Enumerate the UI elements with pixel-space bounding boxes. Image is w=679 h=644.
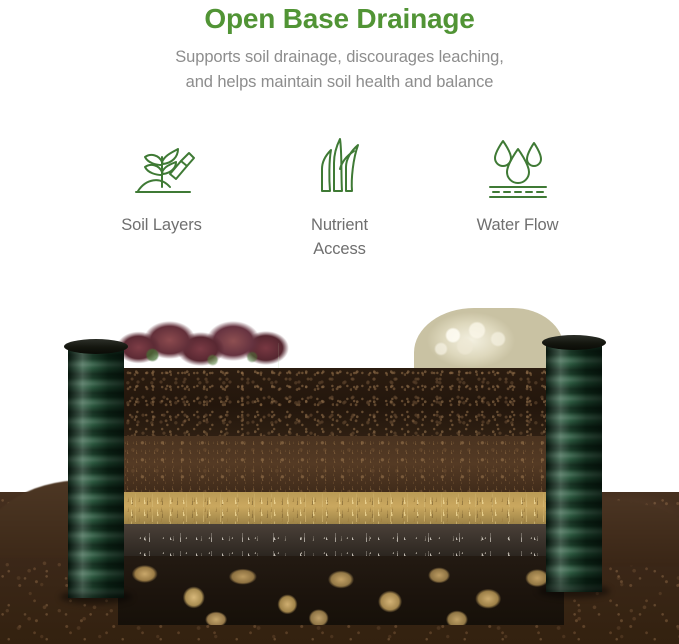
feature-label-line-2: Access xyxy=(311,237,368,261)
feature-label-line-1: Water Flow xyxy=(477,213,559,237)
corrugated-post-right xyxy=(546,342,602,592)
garden-bed-scene xyxy=(0,262,679,644)
feature-soil-layers: Soil Layers xyxy=(73,132,251,237)
soil-layer-cut-logs-base xyxy=(118,556,564,625)
cauliflower xyxy=(414,308,564,370)
grass-blades-icon xyxy=(304,132,376,204)
post-ground-shadow xyxy=(538,584,610,598)
plant-row xyxy=(118,290,564,370)
green-cabbage xyxy=(278,292,426,370)
seedling-shovel-icon xyxy=(126,132,198,204)
post-top-cap xyxy=(64,339,128,354)
post-metal-sheen xyxy=(546,342,602,592)
page-subtitle: Supports soil drainage, discourages leac… xyxy=(0,36,679,95)
subtitle-line-2: and helps maintain soil health and balan… xyxy=(0,70,679,95)
soil-layer-twigs-branches xyxy=(118,524,564,556)
feature-row: Soil Layers Nutrient Access xyxy=(0,132,679,262)
header: Open Base Drainage Supports soil drainag… xyxy=(0,0,679,95)
page-title: Open Base Drainage xyxy=(0,0,679,36)
subtitle-line-1: Supports soil drainage, discourages leac… xyxy=(0,45,679,70)
feature-label-line-1: Nutrient xyxy=(311,213,368,237)
soil-layer-stack xyxy=(118,368,564,625)
raised-bed-cross-section xyxy=(118,290,564,625)
feature-soil-layers-label: Soil Layers xyxy=(121,213,202,237)
soil-layer-topsoil-compost xyxy=(118,368,564,436)
soil-layer-straw-mulch xyxy=(118,492,564,524)
post-ground-shadow xyxy=(60,590,132,604)
feature-nutrient-access: Nutrient Access xyxy=(251,132,429,261)
feature-nutrient-access-label: Nutrient Access xyxy=(311,213,368,261)
feature-label-line-1: Soil Layers xyxy=(121,213,202,237)
soil-layer-coarse-soil xyxy=(118,436,564,492)
red-leaf-lettuce xyxy=(118,320,290,370)
post-metal-sheen xyxy=(68,346,124,598)
water-droplets-icon xyxy=(482,132,554,204)
post-top-cap xyxy=(542,335,606,350)
feature-water-flow: Water Flow xyxy=(429,132,607,237)
feature-water-flow-label: Water Flow xyxy=(477,213,559,237)
corrugated-post-left xyxy=(68,346,124,598)
